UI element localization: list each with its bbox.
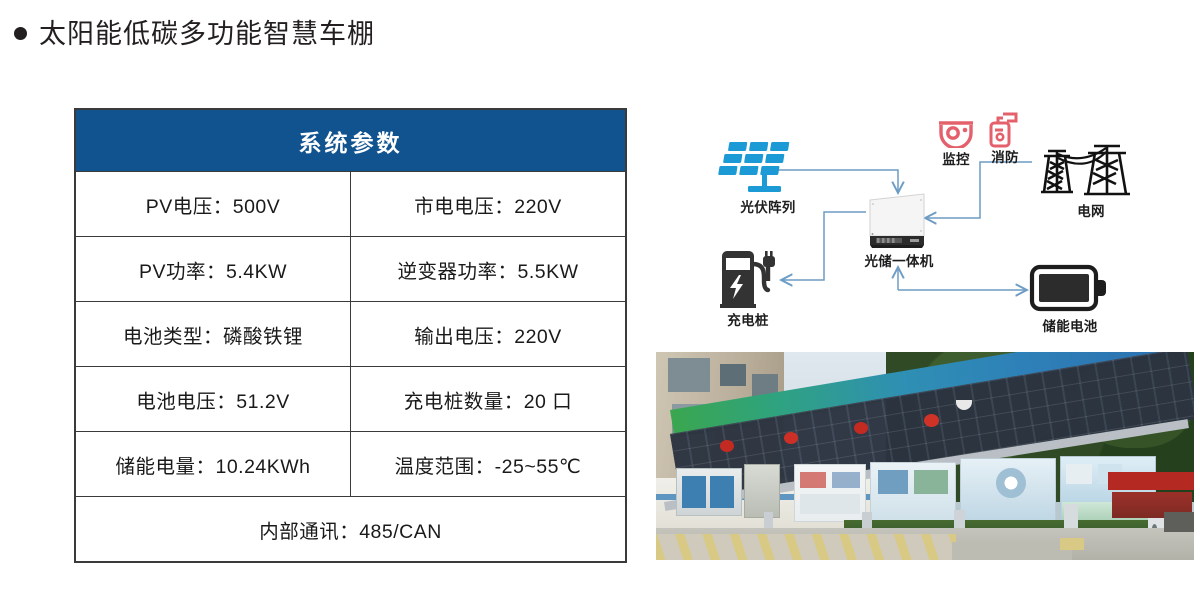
fire-extinguisher-icon [982,110,1028,148]
inverter-cabinet-icon [866,190,930,252]
diagram-label-pv-array: 光伏阵列 [712,196,824,216]
param-cell-output-voltage: 输出电压：220V [351,302,626,367]
param-cell-temperature-range: 温度范围：-25~55℃ [351,432,626,497]
table-row: 内部通讯：485/CAN [76,497,626,562]
battery-icon [1028,262,1114,316]
diagram-label-battery: 储能电池 [1020,315,1120,335]
ev-charger-icon [716,248,782,310]
filled-circle-bullet-icon [14,27,27,40]
page-title: 太阳能低碳多功能智慧车棚 [14,12,375,51]
diagram-node-hybrid-inverter: 光储一体机 [866,190,930,252]
param-cell-internal-comm: 内部通讯：485/CAN [76,497,626,562]
dome-camera-icon [934,112,978,148]
diagram-label-monitoring: 监控 [928,148,984,168]
param-cell-pv-voltage: PV电压：500V [76,172,351,237]
diagram-label-power-grid: 电网 [1036,200,1146,220]
diagram-node-charging-pile: 充电桩 [716,248,782,310]
table-header: 系统参数 [76,110,626,172]
diagram-label-fire-safety: 消防 [978,146,1032,166]
diagram-node-battery: 储能电池 [1028,262,1114,316]
param-cell-pv-power: PV功率：5.4KW [76,237,351,302]
param-cell-battery-voltage: 电池电压：51.2V [76,367,351,432]
param-cell-battery-type: 电池类型：磷酸铁锂 [76,302,351,367]
param-cell-grid-voltage: 市电电压：220V [351,172,626,237]
table-row: PV电压：500V 市电电压：220V [76,172,626,237]
diagram-node-monitoring: 监控 [934,112,978,148]
diagram-node-power-grid: 电网 [1036,138,1146,200]
table-row: 储能电量：10.24KWh 温度范围：-25~55℃ [76,432,626,497]
transmission-tower-icon [1036,138,1146,200]
diagram-label-hybrid-inverter: 光储一体机 [844,250,954,270]
flow-grid-to-inverter [926,162,1032,218]
table-row: 电池电压：51.2V 充电桩数量：20 口 [76,367,626,432]
system-architecture-diagram: 光伏阵列 监控 消防 [650,100,1200,345]
solar-panel-icon [712,138,824,196]
diagram-label-charging-pile: 充电桩 [702,309,794,329]
param-cell-storage-capacity: 储能电量：10.24KWh [76,432,351,497]
diagram-node-pv-array: 光伏阵列 [712,138,824,196]
table-row: PV功率：5.4KW 逆变器功率：5.5KW [76,237,626,302]
param-cell-charger-count: 充电桩数量：20 口 [351,367,626,432]
param-cell-inverter-power: 逆变器功率：5.5KW [351,237,626,302]
table-row: 电池类型：磷酸铁锂 输出电压：220V [76,302,626,367]
page-title-text: 太阳能低碳多功能智慧车棚 [39,12,375,51]
system-parameters-table: 系统参数 PV电压：500V 市电电压：220V PV功率：5.4KW 逆变器功… [74,108,627,563]
diagram-node-fire-safety: 消防 [982,110,1028,148]
solar-carport-photo [656,352,1194,560]
